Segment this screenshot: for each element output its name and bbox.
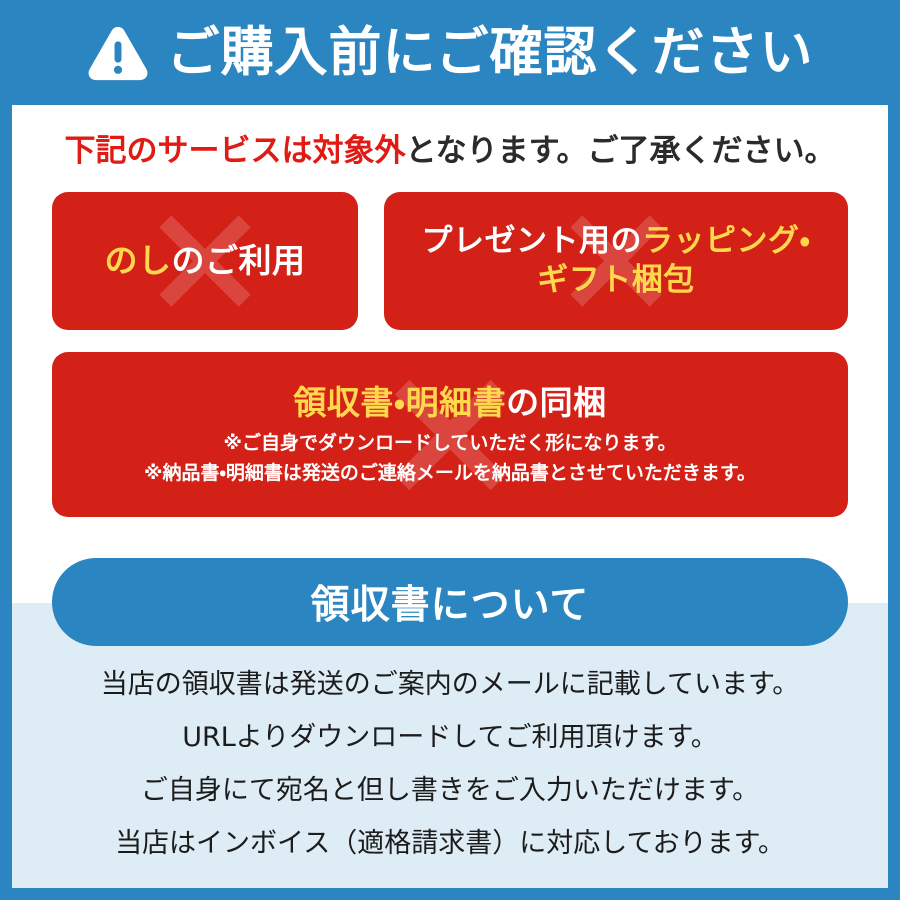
subtitle-rest: となります。ご了承ください。: [406, 133, 836, 169]
warning-triangle-icon: [87, 24, 149, 82]
card-receipt-enclosure-content: 領収書・明細書の同梱 ※ご自身でダウンロードしていただく形になります。 ※納品書…: [144, 382, 756, 487]
card-row-top: のしのご利用 プレゼント用のラッピング・ ギフト梱包: [52, 192, 848, 330]
card-gift-wrapping: プレゼント用のラッピング・ ギフト梱包: [384, 192, 848, 330]
card-noshi: のしのご利用: [52, 192, 358, 330]
receipt-info-line-3: ご自身にて宛名と但し書きをご入力いただけます。: [12, 777, 888, 804]
excluded-services-list: のしのご利用 プレゼント用のラッピング・ ギフト梱包: [52, 192, 848, 517]
subtitle: 下記のサービスは対象外となります。ご了承ください。: [12, 133, 888, 170]
card-receipt-note-2: ※納品書・明細書は発送のご連絡メールを納品書とさせていただきます。: [144, 460, 756, 488]
content-panel: 下記のサービスは対象外となります。ご了承ください。 のしのご利用: [12, 105, 888, 888]
subtitle-highlight: 下記のサービスは対象外: [65, 133, 406, 169]
card-receipt-enclosure: 領収書・明細書の同梱 ※ご自身でダウンロードしていただく形になります。 ※納品書…: [52, 352, 848, 517]
receipt-info-line-2: URLよりダウンロードしてご利用頂けます。: [12, 724, 888, 751]
card-receipt-note-1: ※ご自身でダウンロードしていただく形になります。: [144, 430, 756, 458]
banner-header: ご購入前にご確認ください: [12, 0, 888, 105]
card-gift-wrapping-line1-white: プレゼント用の: [421, 223, 642, 259]
card-gift-wrapping-title: プレゼント用のラッピング・ ギフト梱包: [421, 222, 810, 301]
card-receipt-enclosure-title: 領収書・明細書の同梱: [144, 382, 756, 424]
receipt-info-line-1: 当店の領収書は発送のご案内のメールに記載しています。: [12, 671, 888, 698]
card-noshi-title-white: のご利用: [172, 241, 306, 280]
receipt-info-section: 領収書について 当店の領収書は発送のご案内のメールに記載しています。 URLより…: [12, 603, 888, 888]
card-receipt-enclosure-title-white: の同梱: [506, 383, 607, 422]
card-gift-wrapping-line1-yellow: ラッピング・: [642, 223, 811, 259]
card-noshi-title: のしのご利用: [105, 240, 306, 282]
card-gift-wrapping-line2: ギフト梱包: [421, 261, 810, 301]
receipt-info-heading: 領収書について: [52, 558, 848, 646]
purchase-notice-banner: ご購入前にご確認ください 下記のサービスは対象外となります。ご了承ください。 の…: [0, 0, 900, 900]
receipt-info-line-4: 当店はインボイス（適格請求書）に対応しております。: [12, 830, 888, 857]
receipt-info-text: 当店の領収書は発送のご案内のメールに記載しています。 URLよりダウンロードして…: [12, 671, 888, 857]
card-gift-wrapping-line1: プレゼント用のラッピング・: [421, 222, 810, 262]
page-title: ご購入前にご確認ください: [167, 26, 814, 79]
card-noshi-title-yellow: のし: [105, 241, 172, 280]
card-receipt-enclosure-title-yellow: 領収書・明細書: [293, 383, 506, 422]
